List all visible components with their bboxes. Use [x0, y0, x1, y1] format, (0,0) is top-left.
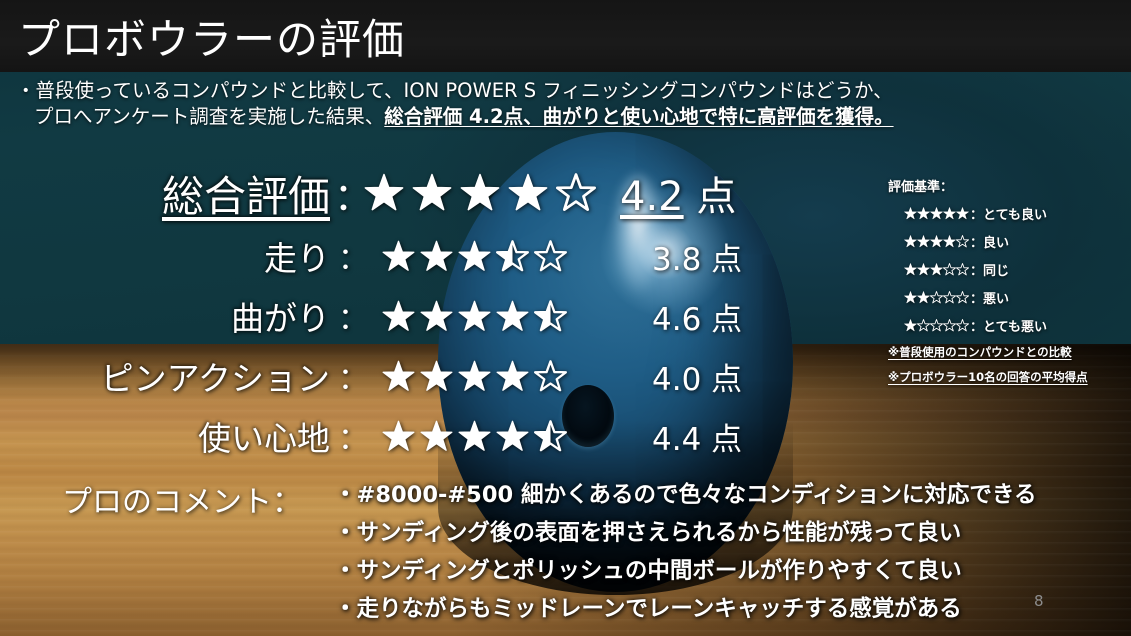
star-filled-icon — [412, 173, 452, 213]
rating-row-tsukai-gokochi: 使い心地 ： 4.4 点 — [0, 406, 870, 466]
lead-paragraph: ・普段使っているコンパウンドと比較して、ION POWER S フィニッシングコ… — [16, 78, 1121, 130]
legend-text-very-bad: ：とても悪い — [970, 316, 1047, 335]
rating-colon-hashiri: ： — [330, 234, 376, 278]
star-filled-icon — [930, 207, 943, 220]
legend-row-good: ：良い — [904, 232, 1126, 251]
legend-title: 評価基準： — [888, 176, 1126, 195]
legend-text-same: ：同じ — [970, 260, 1009, 279]
legend-stars-bad — [904, 291, 969, 304]
rating-row-hashiri: 走り ： 3.8 点 — [0, 226, 870, 286]
star-filled-icon — [508, 173, 548, 213]
star-empty-icon — [943, 263, 956, 276]
star-filled-icon — [382, 300, 415, 333]
rating-score-value-hashiri: 3.8 — [652, 242, 701, 278]
rating-label-tsukai-gokochi: 使い心地 — [0, 412, 330, 460]
ratings-table: 総合評価 ： 4.2 点 走り ： 3.8 点 曲がり ： 4.6 点 ピンアク… — [0, 160, 870, 466]
star-filled-icon — [420, 240, 453, 273]
rating-colon-magari: ： — [330, 294, 376, 338]
star-empty-icon — [943, 291, 956, 304]
star-filled-icon — [382, 420, 415, 453]
lead-line-2-emphasis: 総合評価 4.2点、曲がりと使い心地で特に高評価を獲得。 — [384, 105, 893, 128]
star-filled-icon — [904, 319, 917, 332]
rating-label-magari: 曲がり — [0, 292, 330, 340]
star-filled-icon — [904, 207, 917, 220]
legend-text-good: ：良い — [970, 232, 1009, 251]
lead-line-2: プロへアンケート調査を実施した結果、総合評価 4.2点、曲がりと使い心地で特に高… — [16, 104, 1121, 130]
rating-score-value-tsukai-gokochi: 4.4 — [652, 422, 701, 458]
star-half-icon — [534, 300, 567, 333]
rating-colon-pin-action: ： — [330, 354, 376, 398]
star-filled-icon — [930, 235, 943, 248]
star-empty-icon — [534, 240, 567, 273]
star-filled-icon — [458, 240, 491, 273]
star-half-icon — [534, 420, 567, 453]
legend-stars-good — [904, 235, 969, 248]
rating-stars-overall — [364, 173, 614, 213]
rating-score-unit-tsukai-gokochi: 点 — [711, 422, 742, 458]
star-filled-icon — [904, 263, 917, 276]
star-filled-icon — [382, 360, 415, 393]
rating-score-pin-action: 4.0 点 — [632, 354, 832, 399]
legend-row-very-good: ：とても良い — [904, 204, 1126, 223]
rating-stars-tsukai-gokochi — [376, 420, 632, 453]
page-title: プロボウラーの評価 — [18, 6, 405, 67]
star-filled-icon — [943, 235, 956, 248]
pro-comments-label: プロのコメント： — [62, 477, 302, 521]
rating-stars-magari — [376, 300, 632, 333]
star-filled-icon — [956, 207, 969, 220]
legend-row-very-bad: ：とても悪い — [904, 316, 1126, 335]
star-empty-icon — [534, 360, 567, 393]
legend-note-comparison: ※普段使用のコンパウンドとの比較 — [888, 344, 1126, 360]
rating-score-unit-overall: 点 — [696, 174, 736, 220]
rating-score-value-overall: 4.2 — [620, 174, 684, 220]
star-filled-icon — [458, 420, 491, 453]
star-empty-icon — [556, 173, 596, 213]
pro-comments-list: ・#8000-#500 細かくあるので色々なコンディションに対応できる ・サンデ… — [334, 476, 1094, 628]
lead-line-1: ・普段使っているコンパウンドと比較して、ION POWER S フィニッシングコ… — [16, 78, 1121, 104]
star-filled-icon — [420, 360, 453, 393]
rating-row-magari: 曲がり ： 4.6 点 — [0, 286, 870, 346]
rating-label-hashiri: 走り — [0, 232, 330, 280]
rating-score-hashiri: 3.8 点 — [632, 234, 832, 279]
star-empty-icon — [956, 235, 969, 248]
star-filled-icon — [904, 235, 917, 248]
legend-stars-same — [904, 263, 969, 276]
star-filled-icon — [917, 291, 930, 304]
star-filled-icon — [496, 360, 529, 393]
rating-stars-hashiri — [376, 240, 632, 273]
comment-item: ・#8000-#500 細かくあるので色々なコンディションに対応できる — [334, 476, 1094, 514]
rating-score-value-magari: 4.6 — [652, 302, 701, 338]
star-empty-icon — [943, 319, 956, 332]
rating-criteria-legend: 評価基準： ：とても良い ：良い ：同じ ：悪い ：とても悪い ※普段使用のコン… — [888, 176, 1126, 385]
comment-item: ・サンディングとポリッシュの中間ボールが作りやすくて良い — [334, 552, 1094, 590]
star-empty-icon — [917, 319, 930, 332]
star-filled-icon — [458, 300, 491, 333]
star-filled-icon — [496, 420, 529, 453]
star-filled-icon — [943, 207, 956, 220]
star-filled-icon — [917, 263, 930, 276]
legend-stars-very-bad — [904, 319, 969, 332]
rating-score-tsukai-gokochi: 4.4 点 — [632, 414, 832, 459]
star-filled-icon — [917, 235, 930, 248]
rating-stars-pin-action — [376, 360, 632, 393]
star-empty-icon — [930, 319, 943, 332]
star-filled-icon — [364, 173, 404, 213]
star-filled-icon — [420, 420, 453, 453]
rating-colon-overall: ： — [334, 166, 364, 221]
rating-label-pin-action: ピンアクション — [0, 352, 330, 400]
star-filled-icon — [458, 360, 491, 393]
star-filled-icon — [917, 207, 930, 220]
lead-line-2-plain: プロへアンケート調査を実施した結果、 — [34, 105, 384, 128]
legend-text-very-good: ：とても良い — [970, 204, 1047, 223]
rating-score-value-pin-action: 4.0 — [652, 362, 701, 398]
rating-label-overall: 総合評価 — [0, 163, 334, 224]
rating-row-pin-action: ピンアクション ： 4.0 点 — [0, 346, 870, 406]
legend-text-bad: ：悪い — [970, 288, 1009, 307]
legend-stars-very-good — [904, 207, 969, 220]
comment-item: ・サンディング後の表面を押さえられるから性能が残って良い — [334, 514, 1094, 552]
star-empty-icon — [956, 319, 969, 332]
comment-item: ・走りながらもミッドレーンでレーンキャッチする感覚がある — [334, 590, 1094, 628]
legend-row-same: ：同じ — [904, 260, 1126, 279]
rating-score-unit-pin-action: 点 — [711, 362, 742, 398]
rating-score-overall: 4.2 点 — [614, 164, 800, 222]
star-filled-icon — [420, 300, 453, 333]
star-filled-icon — [382, 240, 415, 273]
rating-score-unit-magari: 点 — [711, 302, 742, 338]
legend-row-bad: ：悪い — [904, 288, 1126, 307]
star-filled-icon — [930, 263, 943, 276]
star-filled-icon — [904, 291, 917, 304]
star-filled-icon — [496, 300, 529, 333]
star-empty-icon — [956, 291, 969, 304]
star-half-icon — [496, 240, 529, 273]
page-number: 8 — [1034, 592, 1044, 610]
star-empty-icon — [930, 291, 943, 304]
rating-colon-tsukai-gokochi: ： — [330, 414, 376, 458]
rating-score-magari: 4.6 点 — [632, 294, 832, 339]
rating-score-unit-hashiri: 点 — [711, 242, 742, 278]
legend-note-average: ※プロボウラー10名の回答の平均得点 — [888, 369, 1126, 385]
star-filled-icon — [460, 173, 500, 213]
rating-row-overall: 総合評価 ： 4.2 点 — [0, 160, 870, 226]
star-empty-icon — [956, 263, 969, 276]
slide-canvas: プロボウラーの評価 ・普段使っているコンパウンドと比較して、ION POWER … — [0, 0, 1131, 636]
